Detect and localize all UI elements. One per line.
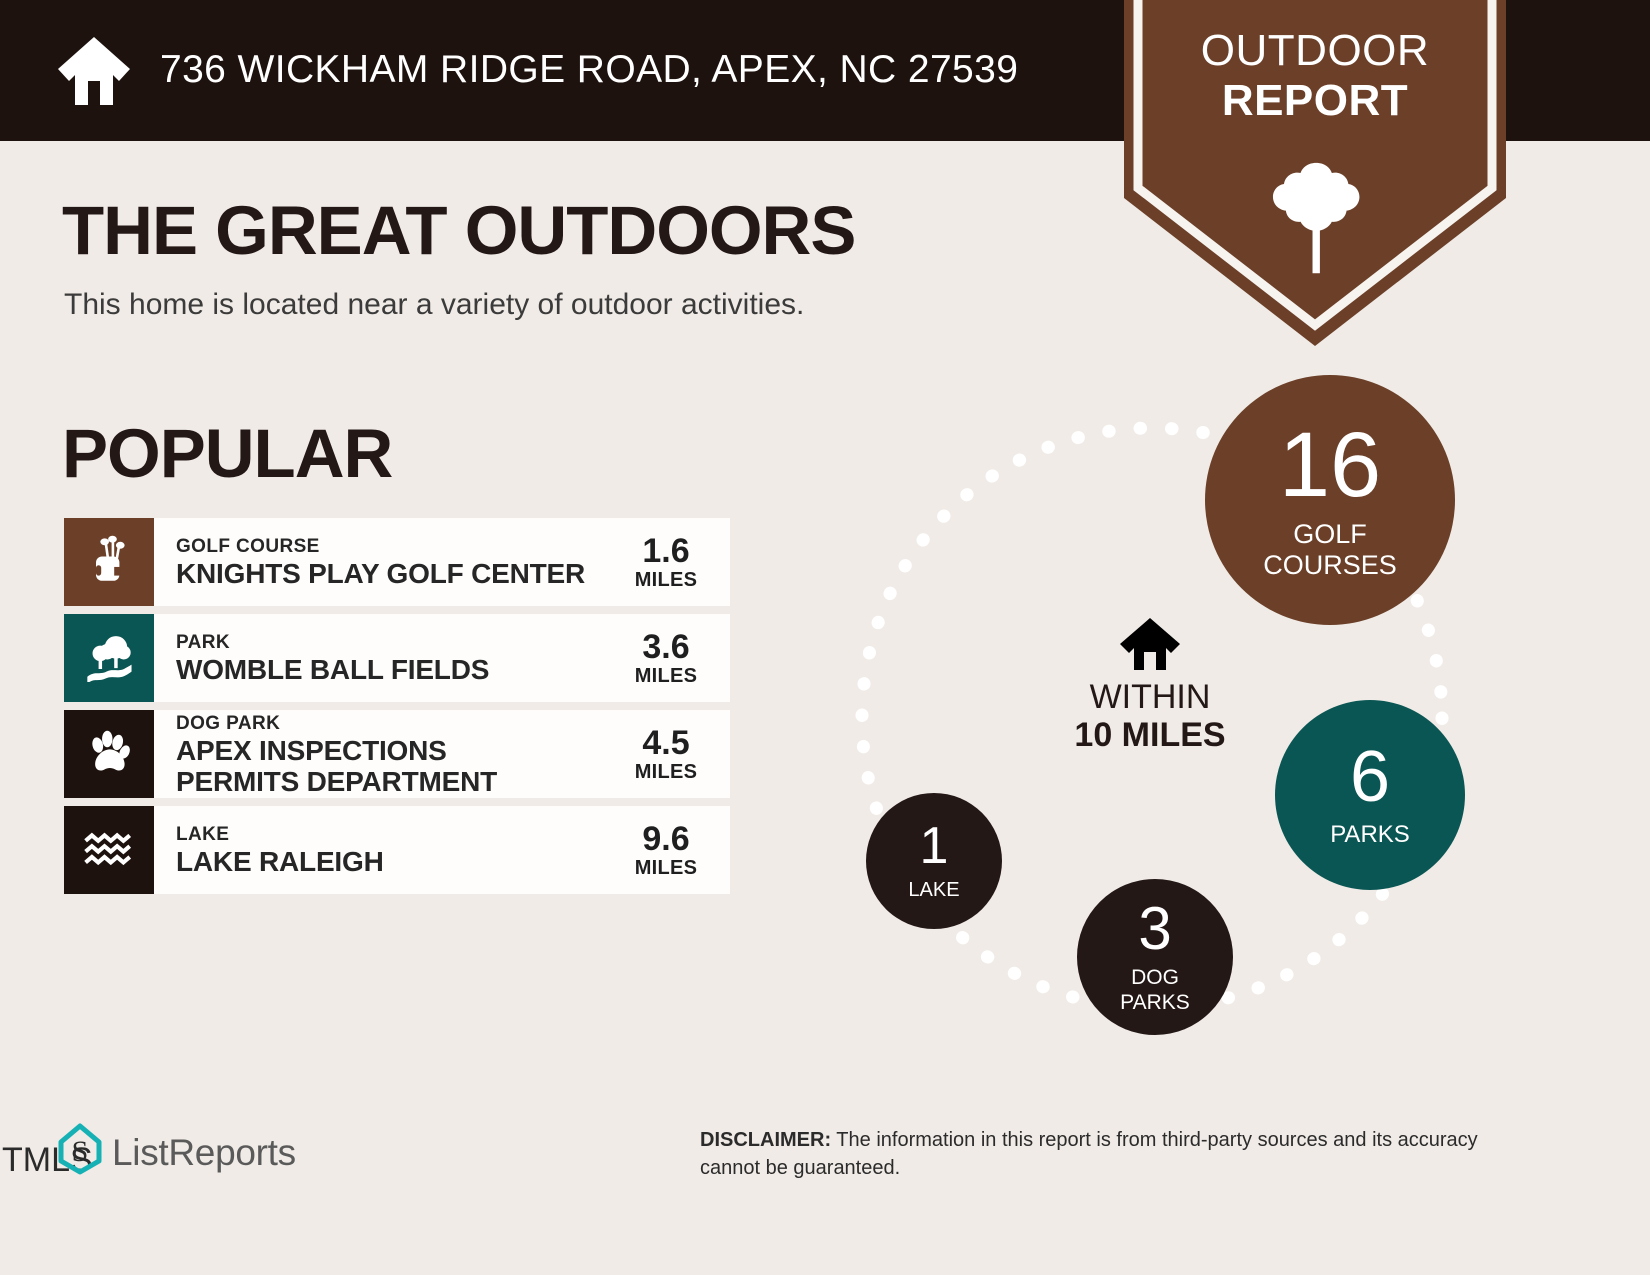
svg-text:S: S xyxy=(72,1135,89,1168)
property-address: 736 WICKHAM RIDGE ROAD, APEX, NC 27539 xyxy=(160,48,1018,92)
bubble-label-line-1: LAKE xyxy=(908,878,959,902)
bubble-value: 3 xyxy=(1138,899,1171,959)
list-item-names: LAKE LAKE RALEIGH xyxy=(176,823,618,877)
distance-value: 9.6 xyxy=(618,821,714,857)
list-item-body: PARK WOMBLE BALL FIELDS 3.6 MILES xyxy=(154,614,730,702)
list-item-tile xyxy=(64,710,154,798)
bubble-dog-parks[interactable]: 3 DOG PARKS xyxy=(1077,879,1233,1035)
bubble-value: 16 xyxy=(1279,419,1381,511)
golf-bag-icon xyxy=(83,534,135,591)
list-item-body: DOG PARK APEX INSPECTIONS PERMITS DEPART… xyxy=(154,710,730,798)
badge-line-1: OUTDOOR xyxy=(1124,26,1506,76)
list-item[interactable]: GOLF COURSE KNIGHTS PLAY GOLF CENTER 1.6… xyxy=(64,518,730,606)
disclaimer: DISCLAIMER: The information in this repo… xyxy=(700,1126,1510,1182)
list-item[interactable]: LAKE LAKE RALEIGH 9.6 MILES xyxy=(64,806,730,894)
distance-unit: MILES xyxy=(618,665,714,688)
within-label-line-1: WITHIN xyxy=(1020,678,1280,716)
disclaimer-label: DISCLAIMER: xyxy=(700,1129,831,1151)
list-item-category: DOG PARK xyxy=(176,712,618,735)
bubble-label-line-2: COURSES xyxy=(1263,550,1397,581)
list-item-distance: 3.6 MILES xyxy=(618,629,726,688)
bubble-label-line-2: PARKS xyxy=(1120,990,1190,1015)
page-title: THE GREAT OUTDOORS xyxy=(62,191,855,270)
paw-print-icon xyxy=(83,726,135,783)
popular-heading: POPULAR xyxy=(62,414,392,493)
list-item-distance: 4.5 MILES xyxy=(618,725,726,784)
bubble-value: 1 xyxy=(920,820,949,872)
list-item-tile xyxy=(64,518,154,606)
water-waves-icon xyxy=(82,821,136,880)
distance-value: 3.6 xyxy=(618,629,714,665)
page-subtitle: This home is located near a variety of o… xyxy=(64,288,804,322)
bubble-parks[interactable]: 6 PARKS xyxy=(1275,700,1465,890)
list-item-category: LAKE xyxy=(176,823,618,846)
house-icon xyxy=(56,35,132,107)
listreports-house-icon: S xyxy=(57,1123,103,1175)
badge-text: OUTDOOR REPORT xyxy=(1124,26,1506,126)
bubble-label-line-1: PARKS xyxy=(1330,821,1410,849)
bubble-value: 6 xyxy=(1350,741,1390,813)
distance-unit: MILES xyxy=(618,569,714,592)
house-icon xyxy=(1118,616,1182,672)
listreports-brand: ListReports xyxy=(112,1132,296,1174)
bubble-golf-courses[interactable]: 16 GOLF COURSES xyxy=(1205,375,1455,625)
list-item-distance: 9.6 MILES xyxy=(618,821,726,880)
list-item-names: DOG PARK APEX INSPECTIONS PERMITS DEPART… xyxy=(176,712,618,797)
list-item[interactable]: PARK WOMBLE BALL FIELDS 3.6 MILES xyxy=(64,614,730,702)
list-item-name: WOMBLE BALL FIELDS xyxy=(176,654,618,685)
bubble-lake[interactable]: 1 LAKE xyxy=(866,793,1002,929)
distance-unit: MILES xyxy=(618,761,714,784)
list-item-names: GOLF COURSE KNIGHTS PLAY GOLF CENTER xyxy=(176,535,618,589)
list-item-names: PARK WOMBLE BALL FIELDS xyxy=(176,631,618,685)
list-item-tile xyxy=(64,614,154,702)
list-item-category: GOLF COURSE xyxy=(176,535,618,558)
distance-value: 4.5 xyxy=(618,725,714,761)
within-label-line-2: 10 MILES xyxy=(1020,716,1280,754)
popular-list: GOLF COURSE KNIGHTS PLAY GOLF CENTER 1.6… xyxy=(64,518,730,902)
list-item-body: GOLF COURSE KNIGHTS PLAY GOLF CENTER 1.6… xyxy=(154,518,730,606)
list-item-body: LAKE LAKE RALEIGH 9.6 MILES xyxy=(154,806,730,894)
within-radius-label: WITHIN 10 MILES xyxy=(1020,616,1280,754)
park-trees-icon xyxy=(83,630,135,687)
list-item-name: KNIGHTS PLAY GOLF CENTER xyxy=(176,558,618,589)
outdoor-report-badge: OUTDOOR REPORT xyxy=(1124,0,1506,346)
list-item-tile xyxy=(64,806,154,894)
bubble-label-line-1: GOLF xyxy=(1293,519,1367,550)
bubble-label-line-1: DOG xyxy=(1131,965,1179,990)
list-item-name: APEX INSPECTIONS PERMITS DEPARTMENT xyxy=(176,735,576,797)
list-item-distance: 1.6 MILES xyxy=(618,533,726,592)
list-item-name: LAKE RALEIGH xyxy=(176,846,618,877)
list-item[interactable]: DOG PARK APEX INSPECTIONS PERMITS DEPART… xyxy=(64,710,730,798)
distance-value: 1.6 xyxy=(618,533,714,569)
list-item-category: PARK xyxy=(176,631,618,654)
distance-unit: MILES xyxy=(618,857,714,880)
badge-line-2: REPORT xyxy=(1124,76,1506,126)
